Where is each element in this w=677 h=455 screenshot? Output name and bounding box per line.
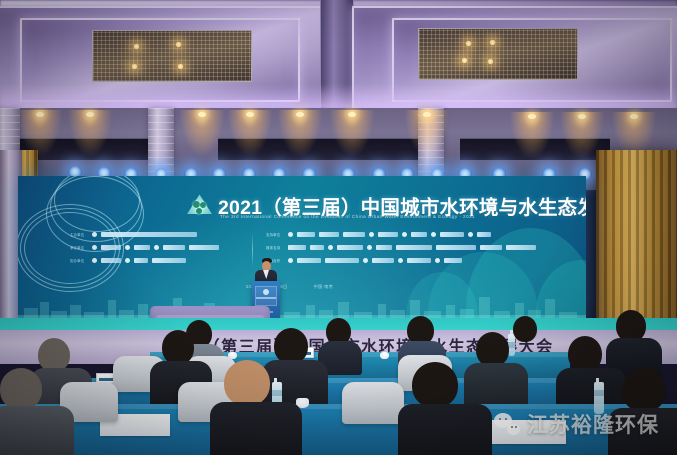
wall-sconce [330, 110, 374, 156]
sponsor-logo [444, 258, 462, 263]
sponsor-mark [363, 258, 368, 263]
sponsor-group-label: 媒体支持 [266, 245, 284, 250]
sponsor-logo [163, 245, 185, 250]
sponsor-mark [92, 232, 97, 237]
sponsor-logo [372, 258, 394, 263]
sponsor-logo [325, 258, 359, 263]
sponsor-mark [367, 245, 372, 250]
sponsor-group-label: 承办单位 [70, 245, 88, 250]
sponsor-mark [288, 232, 293, 237]
sponsor-mark [154, 245, 159, 250]
sponsor-mark [468, 232, 473, 237]
sponsor-logo [288, 245, 306, 250]
sponsor-logo [411, 232, 427, 237]
conference-location: 中国·南京 [313, 284, 333, 290]
sponsor-mark [431, 232, 436, 237]
sponsor-logo [477, 232, 491, 237]
sponsor-row: 媒体支持 [266, 243, 556, 252]
sponsor-mark [328, 245, 333, 250]
water-droplet-logo [186, 194, 213, 219]
sponsor-row: 战略合作 [266, 256, 556, 265]
sponsor-group-label: 支持单位 [266, 232, 284, 237]
led-stage-screen: 2021（第三届）中国城市水环境与水生态发展大会 The 3rd Interna… [18, 176, 586, 324]
sponsor-logo [152, 258, 186, 263]
water-bottle [594, 382, 604, 414]
wall-sconce [510, 112, 554, 158]
sponsor-logo [101, 232, 197, 237]
sponsor-logo [378, 232, 398, 237]
sponsor-logo [134, 258, 148, 263]
sponsor-mark [92, 258, 97, 263]
wall-sconce [405, 110, 449, 156]
sponsor-row: 承办单位 [70, 243, 245, 252]
document-paper [480, 420, 566, 444]
sponsor-mark [92, 245, 97, 250]
sponsor-logo [101, 245, 121, 250]
podium-label [256, 297, 276, 299]
sponsor-logo [297, 258, 321, 263]
sponsor-row: 协办单位 [70, 256, 245, 265]
teacup [380, 352, 389, 359]
sponsor-logo [506, 245, 536, 250]
sponsor-mark [125, 258, 130, 263]
sponsor-mark [398, 258, 403, 263]
ceiling [0, 0, 677, 112]
sponsor-group-label: 协办单位 [70, 258, 88, 263]
sponsor-logo [440, 232, 464, 237]
wall-sconce [180, 110, 224, 156]
wall-sconce [68, 110, 112, 156]
sponsor-row: 支持单位 [266, 230, 556, 239]
sponsor-mark [288, 258, 293, 263]
sponsor-mark [435, 258, 440, 263]
sponsor-logo [297, 232, 315, 237]
audience-chair [342, 382, 404, 424]
sponsor-logo [436, 245, 476, 250]
ceiling-grille-left [92, 30, 252, 82]
conference-subtitle: The 3rd International Conference on the … [220, 214, 475, 219]
sponsor-logo [310, 245, 324, 250]
sponsor-logo [101, 258, 121, 263]
sponsor-logo [343, 232, 365, 237]
ceiling-grille-right [418, 28, 578, 80]
wall-sconce [228, 110, 272, 156]
sponsor-logo [337, 245, 363, 250]
sponsor-logo [480, 245, 502, 250]
sponsor-logo [189, 245, 219, 250]
wall-sconce [278, 110, 322, 156]
conference-hall-photo: 2021（第三届）中国城市水环境与水生态发展大会 The 3rd Interna… [0, 0, 677, 455]
sponsor-logo [407, 258, 431, 263]
sponsor-logo [319, 232, 339, 237]
sponsor-row: 主办单位 [70, 230, 245, 239]
sponsor-logo [396, 245, 432, 250]
sponsor-logo [134, 245, 150, 250]
stage-curtain-right [596, 150, 677, 330]
podium-logo [263, 289, 269, 295]
sponsor-mark [369, 232, 374, 237]
sponsor-group-label: 主办单位 [70, 232, 88, 237]
sponsor-mark [402, 232, 407, 237]
sponsor-logo [376, 245, 392, 250]
sponsor-mark [125, 245, 130, 250]
